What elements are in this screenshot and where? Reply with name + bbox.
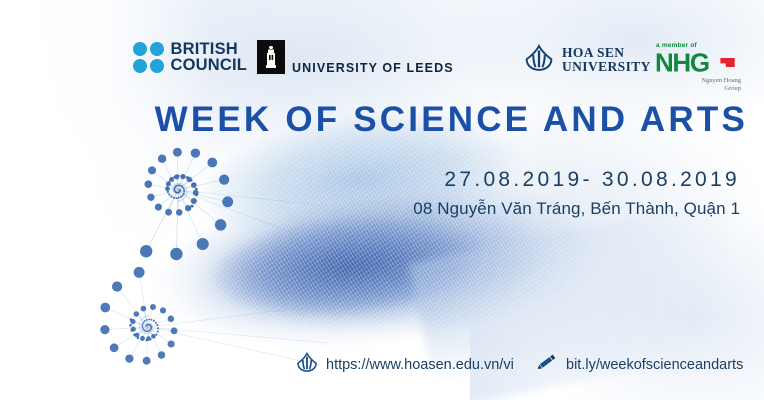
hoa-sen-line1: HOA SEN xyxy=(562,46,651,60)
logo-university-of-leeds: UNIVERSITY OF LEEDS xyxy=(257,40,454,84)
registration-url[interactable]: bit.ly/weekofscienceandarts xyxy=(566,357,743,373)
registration-link[interactable]: bit.ly/weekofscienceandarts xyxy=(537,352,743,377)
british-council-line2: COUNCIL xyxy=(171,58,248,74)
nhg-sub-line2: Group xyxy=(655,85,741,93)
event-banner: BRITISH COUNCIL xyxy=(0,0,764,400)
hoa-sen-lotus-icon xyxy=(296,352,318,377)
british-council-wordmark: BRITISH COUNCIL xyxy=(171,42,248,73)
partner-logo-strip: BRITISH COUNCIL xyxy=(0,16,764,74)
nhg-mark-icon: NHG NHG NHG xyxy=(655,49,741,76)
hoa-sen-lotus-icon xyxy=(524,44,554,76)
leeds-tower-mark-icon xyxy=(257,40,285,74)
event-dates: 27.08.2019- 30.08.2019 xyxy=(0,168,740,192)
nhg-sub-line1: Nguyen Hoang xyxy=(655,77,741,85)
hoa-sen-wordmark: HOA SEN UNIVERSITY xyxy=(562,46,651,74)
hoa-sen-line2: UNIVERSITY xyxy=(562,60,651,74)
event-address: 08 Nguyễn Văn Tráng, Bến Thành, Quận 1 xyxy=(0,199,740,219)
logo-british-council: BRITISH COUNCIL xyxy=(133,42,247,73)
logo-hoa-sen-university: HOA SEN UNIVERSITY xyxy=(524,44,651,76)
website-url[interactable]: https://www.hoasen.edu.vn/vi xyxy=(326,357,514,373)
leeds-wordmark: UNIVERSITY OF LEEDS xyxy=(292,61,454,75)
pencil-icon xyxy=(537,352,557,377)
nhg-member-of-label: a member of xyxy=(656,42,697,49)
logo-nhg: a member of NHG NHG NHG Nguyen Hoang Gro… xyxy=(655,42,741,92)
page-title: WEEK OF SCIENCE AND ARTS xyxy=(0,100,748,140)
svg-text:NHG: NHG xyxy=(655,49,713,76)
website-link[interactable]: https://www.hoasen.edu.vn/vi xyxy=(296,352,514,377)
nhg-sub-wordmark: Nguyen Hoang Group xyxy=(655,77,741,92)
british-council-dots-icon xyxy=(133,42,164,73)
